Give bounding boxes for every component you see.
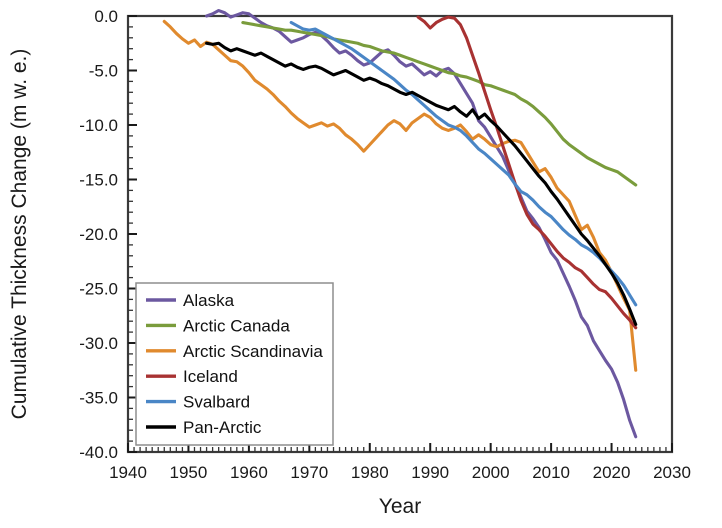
x-tick-label: 1940 xyxy=(109,463,147,482)
x-axis-title: Year xyxy=(379,495,421,518)
legend-label: Svalbard xyxy=(183,393,250,412)
x-tick-label: 2020 xyxy=(593,463,631,482)
chart-canvas: 1940195019601970198019902000201020202030… xyxy=(0,0,722,528)
y-tick-label: -30.0 xyxy=(79,334,118,353)
y-axis-title: Cumulative Thickness Change (m w. e.) xyxy=(8,49,31,420)
x-tick-label: 2010 xyxy=(532,463,570,482)
legend-label: Pan-Arctic xyxy=(183,418,262,437)
y-tick-label: -20.0 xyxy=(79,225,118,244)
x-tick-label: 2000 xyxy=(472,463,510,482)
x-tick-label: 2030 xyxy=(653,463,691,482)
chart-legend: AlaskaArctic CanadaArctic ScandinaviaIce… xyxy=(136,283,333,445)
x-tick-label: 1950 xyxy=(170,463,208,482)
y-tick-label: -10.0 xyxy=(79,116,118,135)
y-tick-label: -25.0 xyxy=(79,280,118,299)
y-tick-label: -35.0 xyxy=(79,389,118,408)
legend-label: Arctic Canada xyxy=(183,316,290,335)
cumulative-thickness-change-chart: 1940195019601970198019902000201020202030… xyxy=(0,0,722,528)
legend-label: Alaska xyxy=(183,291,235,310)
y-tick-label: -5.0 xyxy=(89,62,118,81)
x-tick-label: 1970 xyxy=(290,463,328,482)
y-tick-label: -15.0 xyxy=(79,171,118,190)
x-tick-label: 1990 xyxy=(411,463,449,482)
legend-label: Iceland xyxy=(183,367,238,386)
x-tick-label: 1960 xyxy=(230,463,268,482)
y-tick-label: 0.0 xyxy=(94,7,118,26)
x-tick-label: 1980 xyxy=(351,463,389,482)
legend-label: Arctic Scandinavia xyxy=(183,342,323,361)
y-tick-label: -40.0 xyxy=(79,443,118,462)
